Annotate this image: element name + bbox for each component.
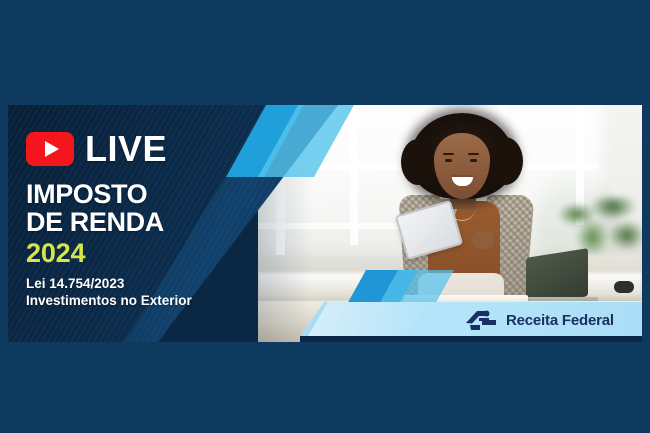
page-root: LIVE IMPOSTO DE RENDA 2024 Lei 14.754/20… bbox=[0, 0, 650, 433]
youtube-play-icon bbox=[26, 132, 74, 166]
year-label: 2024 bbox=[26, 239, 276, 267]
subtitle-line-2: Investimentos no Exterior bbox=[26, 293, 276, 310]
play-triangle-icon bbox=[45, 141, 59, 157]
headline-line-2: DE RENDA bbox=[26, 209, 276, 237]
logo-band-bottom-strip bbox=[300, 336, 642, 342]
subtitle: Lei 14.754/2023 Investimentos no Exterio… bbox=[26, 276, 276, 310]
banner-copy: LIVE IMPOSTO DE RENDA 2024 Lei 14.754/20… bbox=[26, 131, 276, 310]
live-event-banner: LIVE IMPOSTO DE RENDA 2024 Lei 14.754/20… bbox=[8, 105, 642, 342]
receita-federal-label: Receita Federal bbox=[506, 312, 614, 329]
live-label: LIVE bbox=[85, 131, 167, 167]
receita-federal-logo: Receita Federal bbox=[464, 308, 614, 332]
headline-line-1: IMPOSTO bbox=[26, 181, 276, 209]
subtitle-line-1: Lei 14.754/2023 bbox=[26, 276, 276, 293]
live-badge: LIVE bbox=[26, 131, 276, 167]
headline: IMPOSTO DE RENDA bbox=[26, 181, 276, 236]
receita-federal-emblem-icon bbox=[464, 308, 498, 332]
